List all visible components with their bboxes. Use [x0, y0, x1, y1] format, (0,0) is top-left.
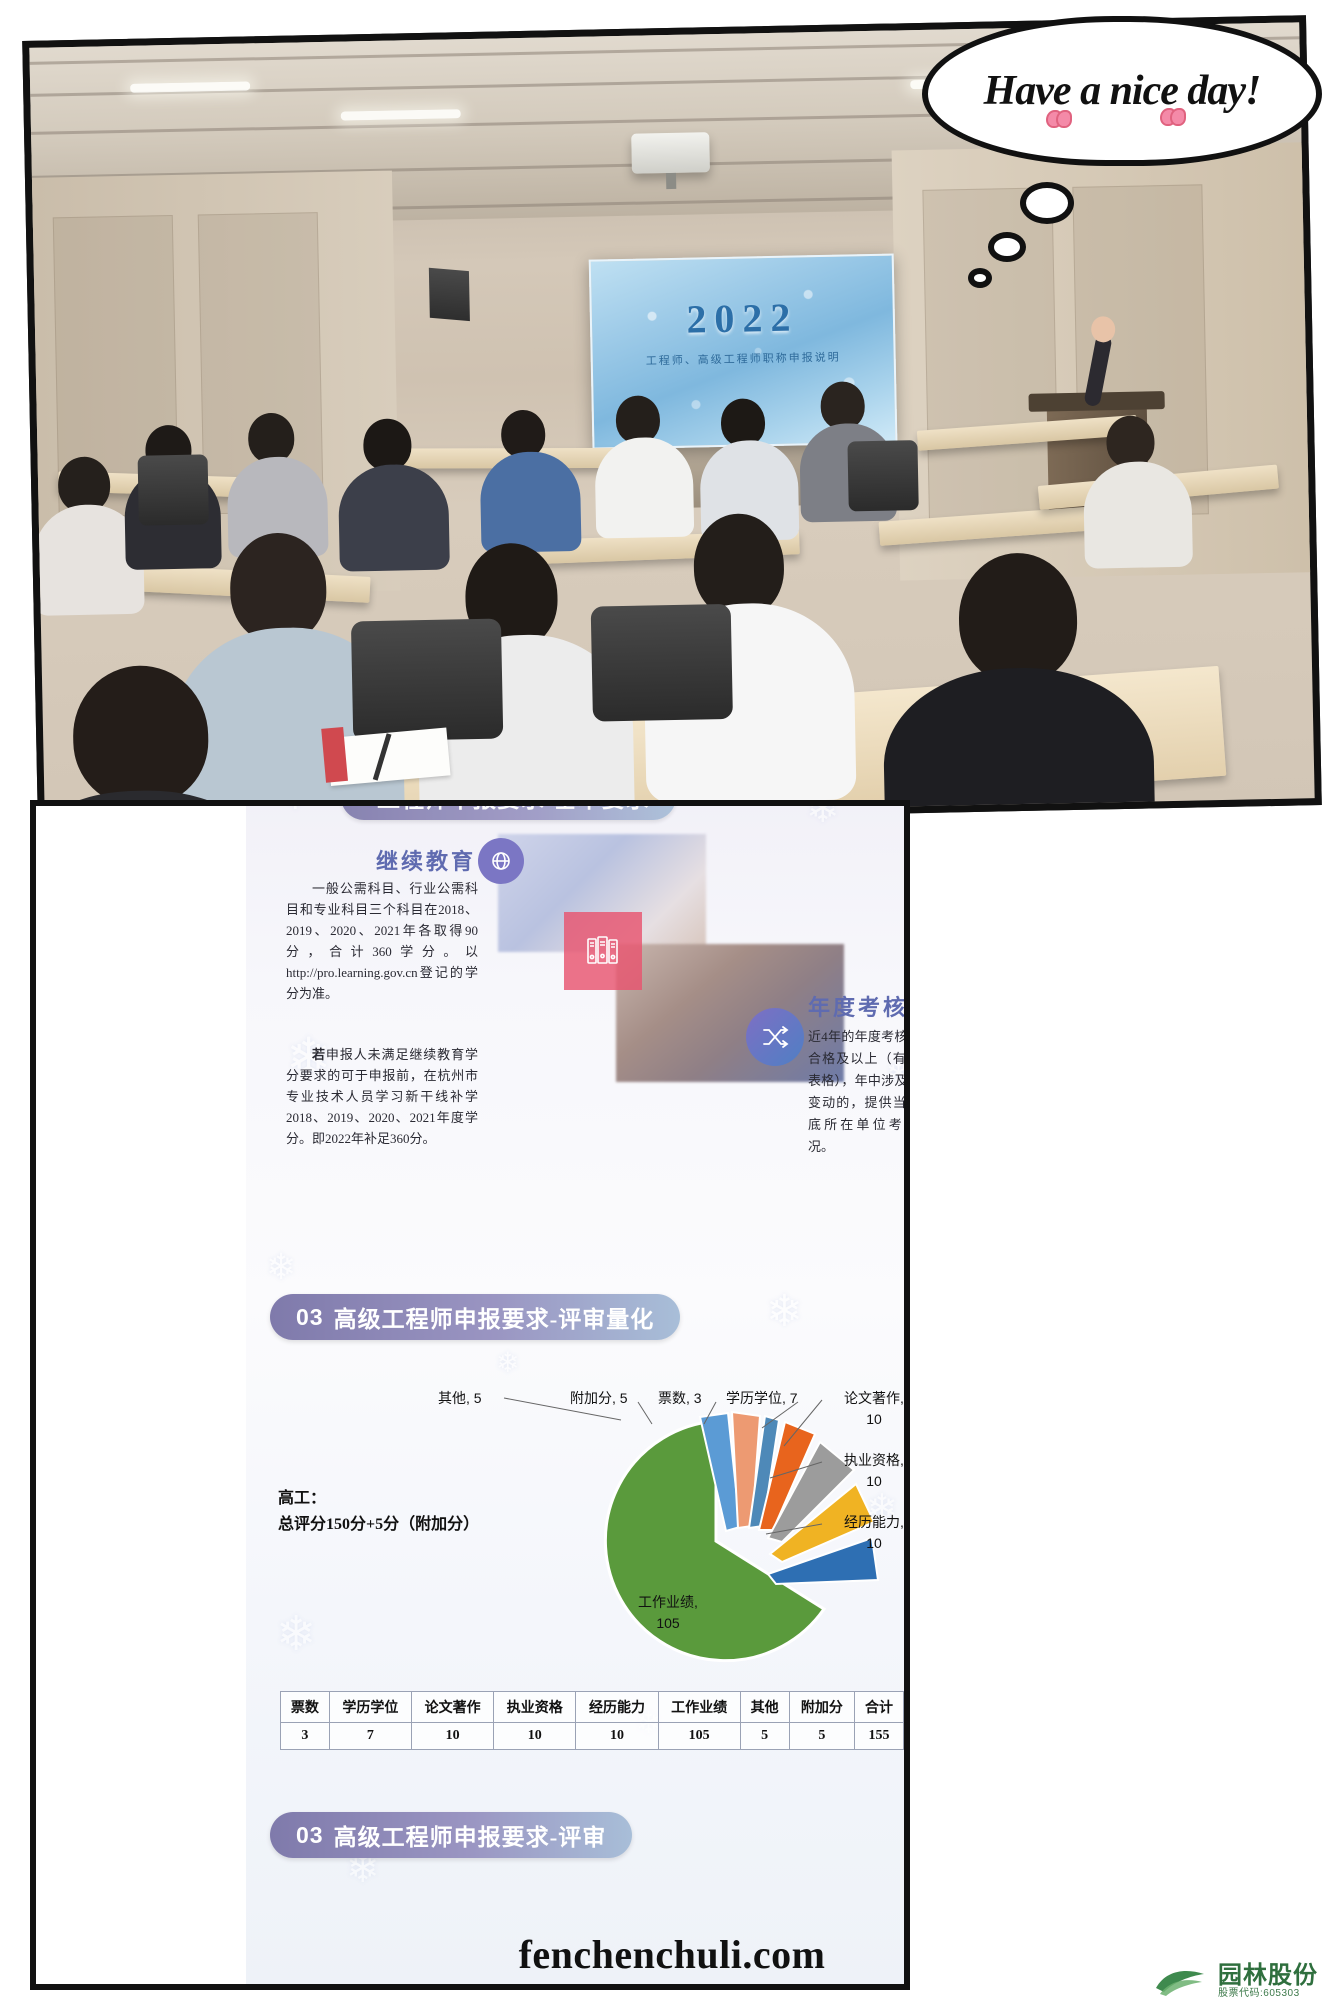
pie-label-jinglinengli-value: 10 [866, 1535, 882, 1551]
pie-label-jinglinengli-name: 经历能力, [844, 1514, 904, 1530]
td-fujiafen: 5 [789, 1723, 855, 1750]
pie-label-qita: 其他, 5 [438, 1388, 482, 1409]
pill-number: 03 [296, 1304, 324, 1331]
annual-review-body: 近4年的年度考核应为合格及以上（有统一表格），年中涉及单位变动的，提供当年年底所… [808, 1026, 910, 1159]
leaf-logo-icon [1152, 1962, 1208, 2002]
gaogong-note: 高工： 总评分150分+5分（附加分） [278, 1486, 479, 1537]
slide-stage: ❄ ❄ ❄ ❄ ❄ ❄ ❄ ❄ ❄ ❄ ❄ ❄ ❄ 工程师申报要求-基本要求 继… [246, 800, 910, 1990]
td-heji: 155 [855, 1723, 904, 1750]
speech-bubble-text: Have a nice day! [928, 22, 1316, 160]
pie-label-piaoshu: 票数, 3 [658, 1388, 702, 1409]
th-qita: 其他 [740, 1692, 789, 1723]
slide-pill-basic-requirements: 工程师申报要求-基本要求 [341, 800, 676, 820]
globe-icon [478, 838, 524, 884]
td-qita: 5 [740, 1723, 789, 1750]
brand-stock-code: 股票代码:605303 [1218, 1989, 1318, 2000]
annual-review-heading: 年度考核 [808, 990, 908, 1022]
td-jinglinengli: 10 [576, 1723, 658, 1750]
brand-name: 园林股份 [1218, 1964, 1318, 1989]
brand-logo: 园林股份 股票代码:605303 [1152, 1962, 1318, 2002]
continuing-education-heading: 继续教育 [376, 844, 476, 876]
chair [591, 604, 733, 722]
td-zhiyezige: 10 [494, 1723, 576, 1750]
pie-label-zhiyezige-value: 10 [866, 1473, 882, 1489]
th-xuelixuewei: 学历学位 [329, 1692, 411, 1723]
pie-label-lunwenzhuzuo-name: 论文著作, [844, 1390, 904, 1406]
pie-label-zhiyezige-name: 执业资格, [844, 1452, 904, 1468]
pie-label-fujiafen: 附加分, 5 [570, 1388, 628, 1409]
continuing-education-para2: 若申报人未满足继续教育学分要求的可于申报前，在杭州市专业技术人员学习新干线补学2… [286, 1044, 478, 1149]
ceiling-projector [631, 132, 710, 174]
gaogong-line1: 高工： [278, 1490, 326, 1507]
speech-bubble-tail-small [968, 268, 992, 288]
pill-label: 高级工程师申报要求-评审 [334, 1818, 607, 1852]
bow-icon [1160, 108, 1186, 122]
pie-label-gongzuoyeji: 工作业绩, 105 [618, 1592, 718, 1634]
chair [138, 454, 209, 525]
pill-label: 高级工程师申报要求-评审量化 [334, 1300, 655, 1334]
chair [351, 618, 503, 741]
pie-label-gongzuoyeji-name: 工作业绩, [638, 1594, 698, 1610]
th-zhiyezige: 执业资格 [494, 1692, 576, 1723]
watermark-text: fenchenchuli.com [0, 1931, 1344, 1978]
pill-number: 03 [296, 1822, 324, 1849]
pie-label-xuelixuewei: 学历学位, 7 [726, 1388, 798, 1409]
slide-pill-bottom: 03 高级工程师申报要求-评审 [270, 1812, 632, 1858]
pill-label: 工程师申报要求-基本要求 [377, 800, 650, 814]
pie-label-lunwenzhuzuo: 论文著作, 10 [826, 1388, 910, 1430]
pie-label-jinglinengli: 经历能力, 10 [826, 1512, 910, 1554]
speech-bubble-tail-medium [988, 232, 1026, 262]
th-heji: 合计 [855, 1692, 904, 1723]
td-gongzuoyeji: 105 [658, 1723, 740, 1750]
gaogong-line2: 总评分150分+5分（附加分） [278, 1516, 479, 1533]
speech-bubble: Have a nice day! [922, 16, 1322, 166]
th-gongzuoyeji: 工作业绩 [658, 1692, 740, 1723]
wall-speaker [429, 268, 470, 321]
bow-icon [1046, 110, 1072, 124]
shuffle-icon [746, 1008, 804, 1066]
speech-bubble-tail-large [1020, 182, 1074, 224]
table-row: 3 7 10 10 10 105 5 5 155 [281, 1723, 904, 1750]
books-icon [564, 912, 642, 990]
continuing-education-para1: 一般公需科目、行业公需科目和专业科目三个科目在2018、2019、2020、20… [286, 878, 478, 1004]
td-lunwenzhuzuo: 10 [412, 1723, 494, 1750]
pie-label-lunwenzhuzuo-value: 10 [866, 1411, 882, 1427]
score-table: 票数 学历学位 论文著作 执业资格 经历能力 工作业绩 其他 附加分 合计 3 … [280, 1691, 904, 1750]
pie-label-zhiyezige: 执业资格, 10 [826, 1450, 910, 1492]
th-jinglinengli: 经历能力 [576, 1692, 658, 1723]
screen-subtitle: 工程师、高级工程师职称申报说明 [593, 348, 894, 370]
slide-pill-quantification: 03 高级工程师申报要求-评审量化 [270, 1294, 680, 1340]
pie-label-gongzuoyeji-value: 105 [656, 1615, 679, 1631]
chair [847, 440, 918, 511]
screen-year: 2022 [591, 292, 893, 345]
notebook-spine [321, 727, 348, 783]
td-piaoshu: 3 [281, 1723, 330, 1750]
para2-lead: 若 [312, 1047, 326, 1062]
td-xuelixuewei: 7 [329, 1723, 411, 1750]
th-lunwenzhuzuo: 论文著作 [412, 1692, 494, 1723]
table-header-row: 票数 学历学位 论文著作 执业资格 经历能力 工作业绩 其他 附加分 合计 [281, 1692, 904, 1723]
th-fujiafen: 附加分 [789, 1692, 855, 1723]
slide-photo-panel: ❄ ❄ ❄ ❄ ❄ ❄ ❄ ❄ ❄ ❄ ❄ ❄ ❄ 工程师申报要求-基本要求 继… [30, 800, 910, 1990]
th-piaoshu: 票数 [281, 1692, 330, 1723]
